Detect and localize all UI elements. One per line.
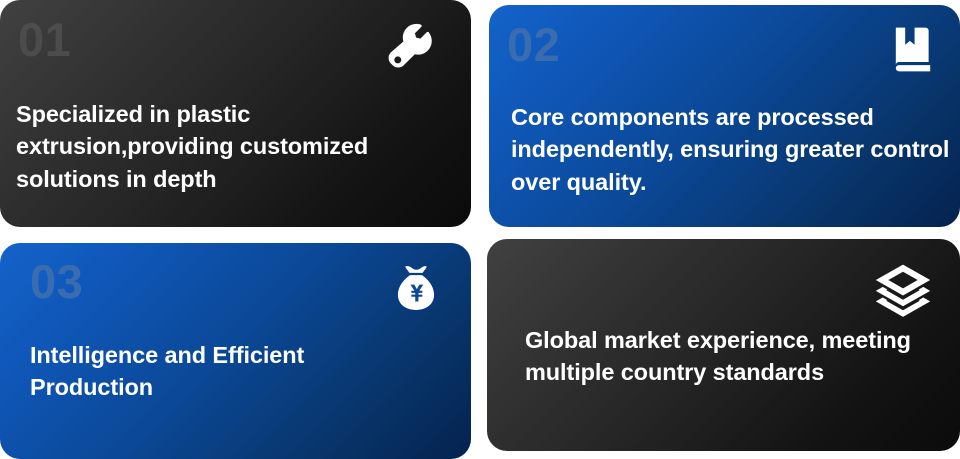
card-headline-01: Specialized in plastic extrusion,providi… bbox=[16, 98, 447, 195]
card-headline-03: Intelligence and Efficient Production bbox=[30, 339, 431, 404]
card-headline-02: Core components are processed independen… bbox=[511, 101, 950, 198]
money-bag-yen-icon bbox=[389, 261, 443, 315]
card-headline-04: Global market experience, meeting multip… bbox=[525, 324, 930, 389]
feature-card-04[interactable]: 04 Global market experience, meeting mul… bbox=[487, 239, 960, 451]
wrench-icon bbox=[383, 23, 439, 79]
card-number-03: 03 bbox=[30, 258, 83, 305]
feature-card-03[interactable]: 03 Intelligence and Efficient Production bbox=[0, 243, 471, 459]
card-number-01: 01 bbox=[18, 16, 71, 63]
card-number-02: 02 bbox=[507, 21, 560, 68]
feature-card-01[interactable]: 01 Specialized in plastic extrusion,prov… bbox=[0, 0, 471, 227]
feature-card-grid: 01 Specialized in plastic extrusion,prov… bbox=[0, 0, 960, 459]
layers-stack-icon bbox=[874, 261, 932, 319]
feature-card-02[interactable]: 02 Core components are processed indepen… bbox=[489, 5, 960, 227]
book-bookmark-icon bbox=[888, 26, 938, 76]
